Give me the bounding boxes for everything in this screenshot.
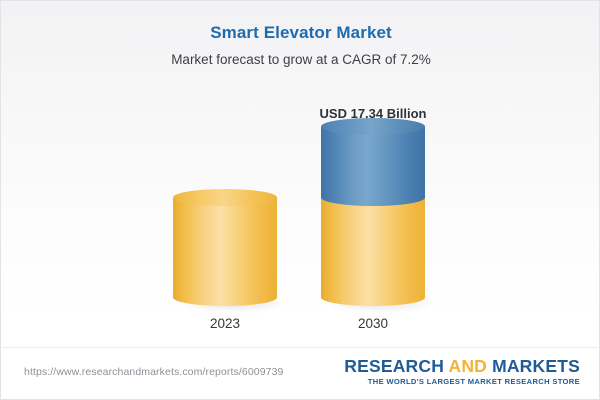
bar-2030 <box>321 118 425 306</box>
category-label-2030: 2030 <box>321 316 425 331</box>
category-label-2023: 2023 <box>173 316 277 331</box>
logo-word-research: RESEARCH <box>344 356 444 376</box>
bar-segment-base-2023 <box>173 189 277 306</box>
infographic-card: Smart Elevator Market Market forecast to… <box>0 0 600 400</box>
logo-tagline: THE WORLD'S LARGEST MARKET RESEARCH STOR… <box>344 377 580 386</box>
research-and-markets-logo[interactable]: RESEARCH AND MARKETS THE WORLD'S LARGEST… <box>344 356 580 386</box>
source-url[interactable]: https://www.researchandmarkets.com/repor… <box>24 366 283 378</box>
cylinder-side <box>321 197 425 298</box>
cylinder-top-ellipse <box>173 189 277 206</box>
footer: https://www.researchandmarkets.com/repor… <box>2 347 598 398</box>
bar-segment-base-2030 <box>321 189 425 306</box>
logo-wordmark: RESEARCH AND MARKETS <box>344 356 580 376</box>
cylinder-side <box>321 126 425 198</box>
cylinder-top-ellipse <box>321 118 425 135</box>
cylinder-side <box>173 197 277 298</box>
bar-chart-plot-area: USD 10.8 Billion 2023 USD 17.34 Billion <box>1 1 600 349</box>
bar-segment-growth-2030 <box>321 118 425 206</box>
logo-word-markets: MARKETS <box>492 356 580 376</box>
bar-2023 <box>173 189 277 306</box>
logo-word-and: AND <box>448 356 487 376</box>
